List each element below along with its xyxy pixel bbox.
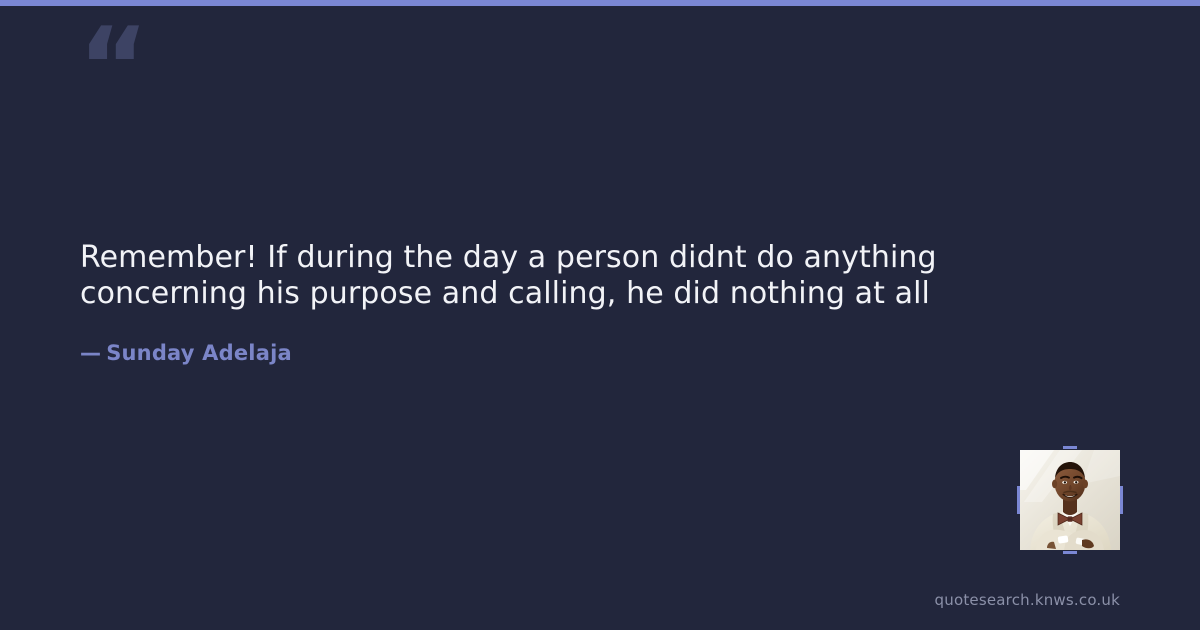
quote-block: Remember! If during the day a person did… bbox=[80, 240, 1040, 366]
portrait-accent-right bbox=[1120, 486, 1123, 514]
author-portrait bbox=[1020, 450, 1120, 550]
quote-card: “ Remember! If during the day a person d… bbox=[0, 0, 1200, 630]
source-watermark: quotesearch.knws.co.uk bbox=[935, 591, 1120, 609]
author-portrait-illustration bbox=[1020, 450, 1120, 550]
portrait-accent-left bbox=[1017, 486, 1020, 514]
portrait-accent-bottom bbox=[1063, 551, 1077, 554]
top-accent-bar bbox=[0, 0, 1200, 6]
author-portrait-image bbox=[1020, 450, 1120, 550]
portrait-accent-top bbox=[1063, 446, 1077, 449]
quote-text: Remember! If during the day a person did… bbox=[80, 240, 1040, 312]
author-name: Sunday Adelaja bbox=[106, 341, 292, 365]
attribution-dash: — bbox=[80, 340, 106, 366]
open-quote-icon: “ bbox=[78, 14, 147, 122]
quote-attribution: —Sunday Adelaja bbox=[80, 312, 1040, 366]
